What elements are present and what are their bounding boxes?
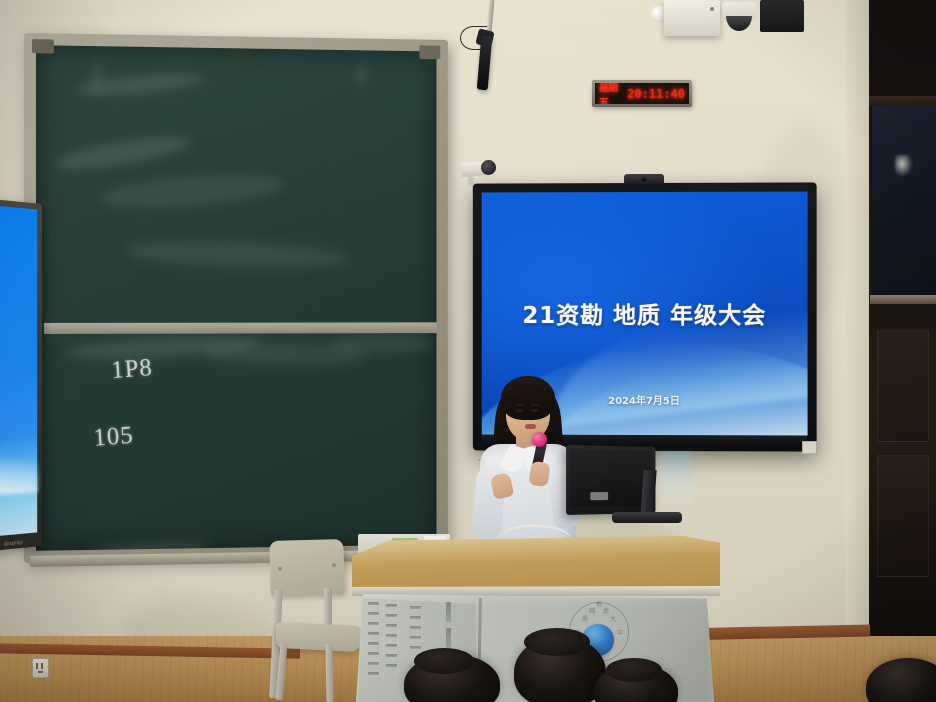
crest-char: 质 (582, 614, 589, 621)
blackboard-corner (32, 39, 54, 53)
black-wall-panel (760, 0, 804, 32)
chalk-smear (356, 64, 365, 86)
chalk-smear (330, 335, 435, 353)
blackboard-divider (44, 322, 437, 334)
microphone-windscreen-icon (532, 432, 547, 447)
ceiling-speaker-unit (664, 0, 720, 36)
led-clock-display: 星期五 20:11:40 (592, 80, 692, 107)
door-ledge (870, 295, 936, 304)
door-panel (877, 455, 929, 577)
camera-lens-icon (641, 177, 647, 183)
blackboard-surface: 1P8 105 (36, 45, 437, 551)
audience-hair-tuft (524, 628, 590, 656)
blackboard: 1P8 105 (24, 33, 448, 563)
chalk-smear (53, 131, 193, 175)
chair-rivet (332, 563, 336, 567)
led-clock-weekday: 星期五 (599, 83, 624, 104)
crest-char: 国 (589, 606, 596, 613)
monitor-label (590, 492, 608, 500)
wall-right-strip (845, 0, 871, 640)
podium-vent-group (386, 598, 400, 694)
slide-title: 21资勘 地质 年级大会 (482, 296, 808, 330)
wall-plate (802, 441, 817, 454)
audience-hair-tuft (606, 658, 662, 682)
podium-vent-group (368, 598, 382, 694)
monitor-glow (660, 452, 692, 504)
crest-char: 大 (610, 614, 617, 621)
door-panel (877, 330, 929, 442)
podium-lip (352, 586, 720, 596)
crest-char: 地 (596, 599, 603, 606)
led-clock-time: 20:11:40 (627, 87, 685, 101)
glass-glint (895, 155, 913, 177)
wall-camera-lens-icon (481, 160, 496, 175)
monitor-screen (570, 449, 652, 506)
chair-rivet (278, 567, 282, 571)
presenter-hair-top (501, 376, 555, 420)
screen-camera-icon (624, 174, 664, 185)
monitor-stand-base (612, 512, 682, 523)
chair-backrest (269, 539, 344, 597)
podium-desktop-highlight (352, 536, 720, 592)
door-trim (869, 96, 936, 106)
crest-char: 中 (617, 628, 624, 635)
door-window-glass (872, 106, 936, 296)
blackboard-corner (419, 45, 440, 59)
display-brand-label: display (4, 540, 23, 548)
chair-seat (276, 622, 362, 653)
status-led-icon (710, 7, 714, 11)
wall-outlet[interactable] (32, 658, 49, 678)
chair-leg (325, 644, 333, 702)
secondary-display-panel (0, 205, 37, 537)
secondary-display: display (0, 198, 42, 551)
chalk-note-1: 1P8 (110, 354, 153, 385)
blackboard-upper-panel (36, 45, 437, 323)
led-clock-face: 星期五 20:11:40 (595, 83, 689, 104)
presenter-eye (516, 409, 523, 412)
presenter-eye (531, 409, 538, 412)
presenter-mouth (525, 424, 536, 429)
chalk-smear (125, 237, 349, 271)
classroom-photo: 星期五 20:11:40 1P8 105 (0, 0, 936, 702)
wallpaper-wave (0, 432, 37, 495)
chalk-smear (99, 169, 287, 214)
chalk-smear (91, 539, 209, 551)
blackboard-lower-panel: 1P8 105 (36, 333, 437, 551)
audience-hair-tuft (414, 648, 474, 674)
crest-char: 武 (603, 606, 610, 613)
chalk-note-2: 105 (93, 422, 135, 453)
